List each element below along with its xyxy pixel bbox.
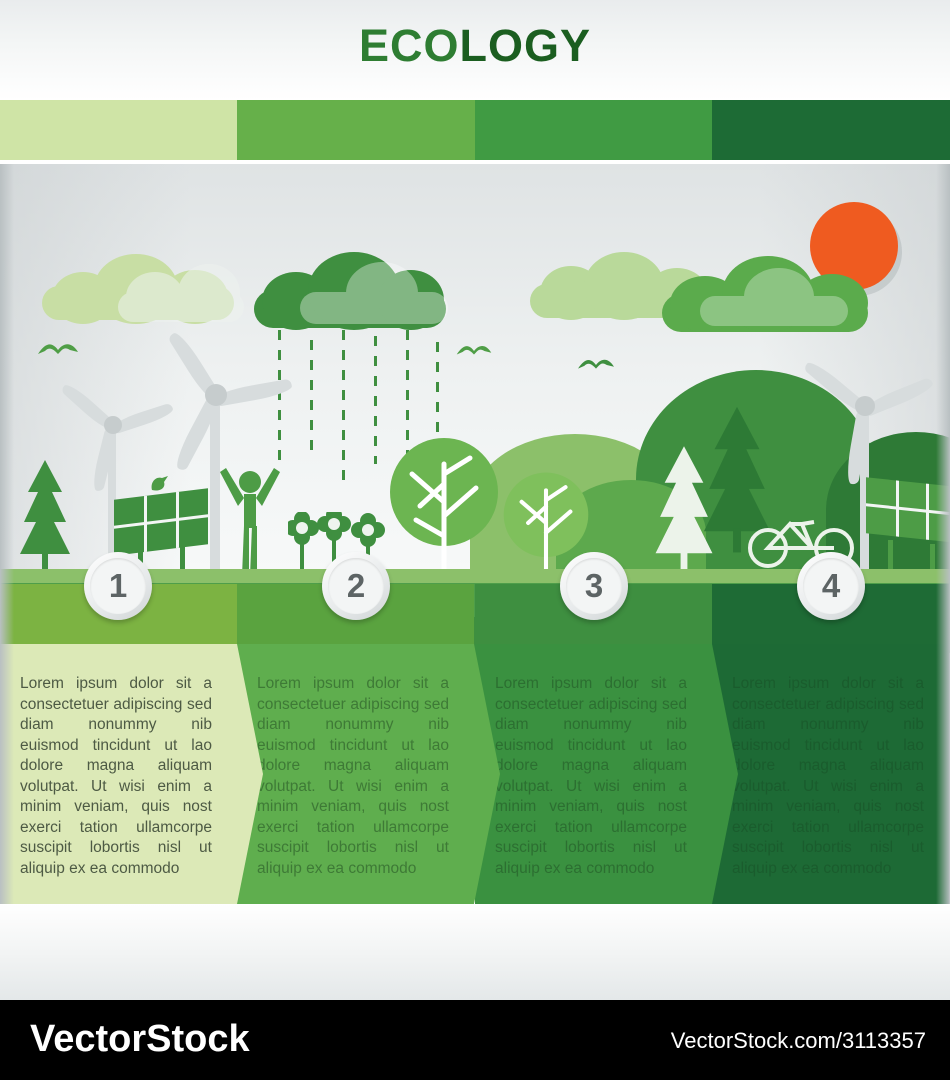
column-text-4: Lorem ipsum dolor sit a consectetuer adi… — [732, 674, 924, 879]
column-body-4: Lorem ipsum dolor sit a consectetuer adi… — [712, 644, 949, 904]
cloud-icon — [118, 262, 246, 324]
step-number-1: 1 — [84, 552, 152, 620]
cloud-icon — [700, 268, 850, 328]
bird-icon — [148, 474, 170, 499]
column-body-2: Lorem ipsum dolor sit a consectetuer adi… — [237, 644, 474, 904]
color-strip-segment-4 — [712, 100, 950, 160]
page-title-prefix: ECO — [359, 20, 460, 71]
infographic-page: ECOLOGY — [0, 0, 950, 1080]
column-arrow-1 — [237, 644, 263, 904]
info-column-1[interactable]: Lorem ipsum dolor sit a consectetuer adi… — [0, 584, 237, 904]
info-columns: Lorem ipsum dolor sit a consectetuer adi… — [0, 584, 950, 904]
column-body-3: Lorem ipsum dolor sit a consectetuer adi… — [475, 644, 712, 904]
left-edge-shadow — [0, 164, 14, 904]
step-number-2: 2 — [322, 552, 390, 620]
watermark-bar: VectorStock VectorStock.com/3113357 — [0, 1000, 950, 1080]
column-body-1: Lorem ipsum dolor sit a consectetuer adi… — [0, 644, 237, 904]
column-arrow-2 — [474, 644, 500, 904]
watermark-brand: VectorStock — [30, 1018, 250, 1061]
watermark-url: VectorStock.com/3113357 — [671, 1028, 926, 1054]
page-title-suffix: LOGY — [460, 20, 592, 71]
cloud-icon — [300, 260, 450, 326]
info-column-4[interactable]: Lorem ipsum dolor sit a consectetuer adi… — [712, 584, 949, 904]
info-column-3[interactable]: Lorem ipsum dolor sit a consectetuer adi… — [475, 584, 712, 904]
bird-icon — [36, 340, 80, 365]
color-strip-segment-3 — [475, 100, 712, 160]
page-title: ECOLOGY — [0, 20, 950, 72]
bird-icon — [576, 356, 616, 379]
step-badge-4[interactable]: 4 — [797, 552, 865, 620]
bottom-gap — [0, 904, 950, 1000]
step-number-4: 4 — [797, 552, 865, 620]
person-icon — [214, 454, 286, 587]
fir-tree-icon — [14, 458, 76, 579]
step-badge-2[interactable]: 2 — [322, 552, 390, 620]
step-badge-3[interactable]: 3 — [560, 552, 628, 620]
column-text-1: Lorem ipsum dolor sit a consectetuer adi… — [20, 674, 212, 879]
step-number-3: 3 — [560, 552, 628, 620]
color-strip-segment-2 — [237, 100, 475, 160]
tree-icon — [390, 430, 498, 585]
step-badge-1[interactable]: 1 — [84, 552, 152, 620]
bird-icon — [455, 342, 493, 365]
column-arrow-3 — [712, 644, 738, 904]
right-edge-shadow — [936, 164, 950, 904]
info-column-2[interactable]: Lorem ipsum dolor sit a consectetuer adi… — [237, 584, 474, 904]
title-band: ECOLOGY — [0, 0, 950, 100]
column-text-2: Lorem ipsum dolor sit a consectetuer adi… — [257, 674, 449, 879]
column-text-3: Lorem ipsum dolor sit a consectetuer adi… — [495, 674, 687, 879]
color-strip-segment-1 — [0, 100, 237, 160]
